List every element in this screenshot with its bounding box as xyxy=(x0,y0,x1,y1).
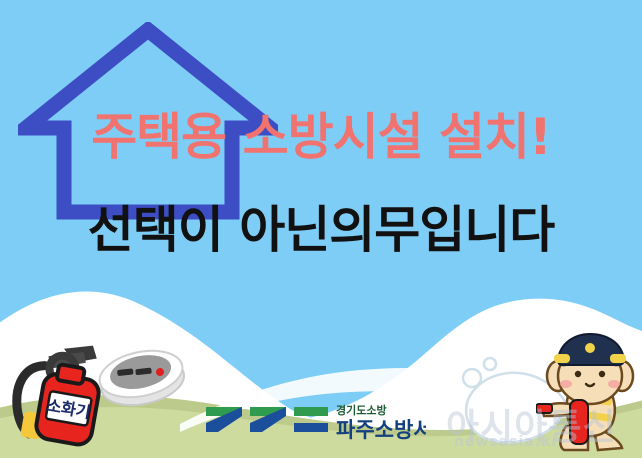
mascot-cheek-left xyxy=(560,380,572,388)
mascot-eye-left xyxy=(575,371,581,377)
subline-text-after: 입니다 xyxy=(419,205,554,255)
subline-container: 선택이 아닌 의무입니다 xyxy=(0,205,642,255)
page-title: 주택용 소방시설 설치! xyxy=(0,112,642,162)
logo-agency-small: 경기도소방 xyxy=(336,403,387,417)
watermark-url: newsasia.kr xyxy=(454,434,559,450)
helmet-badge-left xyxy=(554,354,570,363)
extinguisher-neck xyxy=(56,364,84,384)
watermark: 아시아통신 newsasia.kr xyxy=(446,398,642,456)
spray-puff-1 xyxy=(463,369,481,387)
smoke-detector-icon xyxy=(92,338,190,410)
logo-mark-icon xyxy=(206,407,328,432)
logo-agency-large: 파주소방서 xyxy=(336,418,426,442)
spray-puff-2 xyxy=(484,358,496,370)
headline-container: 주택용 소방시설 설치! xyxy=(0,112,642,162)
mascot-eye-right xyxy=(599,371,605,377)
helmet-badge-right xyxy=(610,354,626,363)
subline-text-before: 선택이 아닌 xyxy=(88,205,329,255)
fire-safety-poster: 주택용 소방시설 설치! 선택이 아닌 의무입니다 소화기 xyxy=(0,0,642,458)
helmet-emblem-icon xyxy=(585,343,595,353)
mascot-cheek-right xyxy=(608,380,620,388)
agency-logo: 경기도소방 파주소방서 xyxy=(204,399,426,447)
subline-highlight: 의무 xyxy=(329,205,419,255)
